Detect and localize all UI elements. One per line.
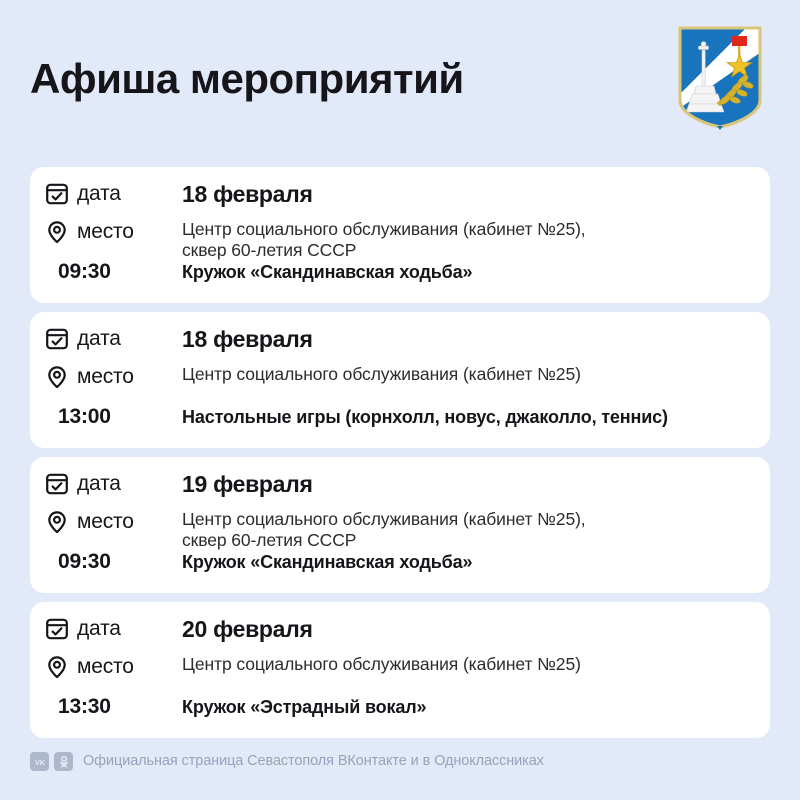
date-label: дата xyxy=(77,326,121,352)
map-pin-icon xyxy=(44,654,70,680)
date-value-cell: 18 февраля xyxy=(182,326,754,352)
event-place: Центр социального обслуживания (кабинет … xyxy=(182,654,754,675)
event-card[interactable]: дата 18 февраля место Це xyxy=(30,167,770,303)
event-time: 13:00 xyxy=(44,404,111,430)
date-label-cell: дата xyxy=(30,326,182,352)
footer-text: Официальная страница Севастополя ВКонтак… xyxy=(83,752,544,771)
place-label-cell: место xyxy=(30,654,182,680)
event-place: Центр социального обслуживания (кабинет … xyxy=(182,219,754,261)
place-label: место xyxy=(77,219,134,245)
date-label-cell: дата xyxy=(30,616,182,642)
place-label: место xyxy=(77,654,134,680)
event-date: 18 февраля xyxy=(182,181,754,207)
event-date-row: дата 18 февраля xyxy=(30,326,754,352)
title-value-cell: Кружок «Скандинавская ходьба» xyxy=(182,259,754,285)
event-card[interactable]: дата 19 февраля место Це xyxy=(30,457,770,593)
event-title: Настольные игры (корнхолл, новус, джакол… xyxy=(182,404,754,430)
title-value-cell: Кружок «Скандинавская ходьба» xyxy=(182,549,754,575)
title-value-cell: Кружок «Эстрадный вокал» xyxy=(182,694,754,720)
event-time-row: 09:30 Кружок «Скандинавская ходьба» xyxy=(30,549,754,575)
event-date-row: дата 18 февраля xyxy=(30,181,754,207)
date-label: дата xyxy=(77,616,121,642)
event-place: Центр социального обслуживания (кабинет … xyxy=(182,364,754,385)
calendar-check-icon xyxy=(44,616,70,642)
time-label-cell: 13:00 xyxy=(30,404,182,430)
event-place: Центр социального обслуживания (кабинет … xyxy=(182,509,754,551)
date-label: дата xyxy=(77,181,121,207)
event-place-row: место Центр социального обслуживания (ка… xyxy=(30,219,754,261)
place-label-cell: место xyxy=(30,364,182,390)
map-pin-icon xyxy=(44,219,70,245)
calendar-check-icon xyxy=(44,326,70,352)
date-value-cell: 18 февраля xyxy=(182,181,754,207)
place-label: место xyxy=(77,509,134,535)
event-title: Кружок «Скандинавская ходьба» xyxy=(182,549,754,575)
event-card[interactable]: дата 20 февраля место Це xyxy=(30,602,770,738)
event-title: Кружок «Эстрадный вокал» xyxy=(182,694,754,720)
event-title: Кружок «Скандинавская ходьба» xyxy=(182,259,754,285)
date-value-cell: 19 февраля xyxy=(182,471,754,497)
calendar-check-icon xyxy=(44,181,70,207)
event-date: 18 февраля xyxy=(182,326,754,352)
event-place-row: место Центр социального обслуживания (ка… xyxy=(30,364,754,390)
event-time: 13:30 xyxy=(44,694,111,720)
event-date-row: дата 20 февраля xyxy=(30,616,754,642)
event-place-row: место Центр социального обслуживания (ка… xyxy=(30,509,754,551)
place-label: место xyxy=(77,364,134,390)
poster-page: Афиша мероприятий xyxy=(0,0,800,800)
time-label-cell: 09:30 xyxy=(30,259,182,285)
date-label-cell: дата xyxy=(30,471,182,497)
footer: VK Официальная страница Севастополя ВКон… xyxy=(30,752,544,771)
date-value-cell: 20 февраля xyxy=(182,616,754,642)
page-title: Афиша мероприятий xyxy=(30,56,464,101)
header: Афиша мероприятий xyxy=(0,0,800,152)
event-date-row: дата 19 февраля xyxy=(30,471,754,497)
events-list: дата 18 февраля место Це xyxy=(30,167,770,747)
time-label-cell: 09:30 xyxy=(30,549,182,575)
time-label-cell: 13:30 xyxy=(30,694,182,720)
map-pin-icon xyxy=(44,509,70,535)
event-time-row: 13:00 Настольные игры (корнхолл, новус, … xyxy=(30,404,754,430)
title-value-cell: Настольные игры (корнхолл, новус, джакол… xyxy=(182,404,754,430)
event-time: 09:30 xyxy=(44,549,111,575)
event-card[interactable]: дата 18 февраля место Це xyxy=(30,312,770,448)
place-value-cell: Центр социального обслуживания (кабинет … xyxy=(182,654,754,675)
place-value-cell: Центр социального обслуживания (кабинет … xyxy=(182,364,754,385)
event-time-row: 09:30 Кружок «Скандинавская ходьба» xyxy=(30,259,754,285)
map-pin-icon xyxy=(44,364,70,390)
event-place-row: место Центр социального обслуживания (ка… xyxy=(30,654,754,680)
date-label: дата xyxy=(77,471,121,497)
calendar-check-icon xyxy=(44,471,70,497)
place-label-cell: место xyxy=(30,219,182,245)
event-time: 09:30 xyxy=(44,259,111,285)
event-date: 20 февраля xyxy=(182,616,754,642)
odnoklassniki-icon[interactable] xyxy=(54,752,73,771)
event-time-row: 13:30 Кружок «Эстрадный вокал» xyxy=(30,694,754,720)
coat-of-arms-sevastopol xyxy=(676,24,764,130)
vk-icon[interactable]: VK xyxy=(30,752,49,771)
place-label-cell: место xyxy=(30,509,182,535)
event-date: 19 февраля xyxy=(182,471,754,497)
place-value-cell: Центр социального обслуживания (кабинет … xyxy=(182,219,754,261)
place-value-cell: Центр социального обслуживания (кабинет … xyxy=(182,509,754,551)
date-label-cell: дата xyxy=(30,181,182,207)
svg-text:VK: VK xyxy=(34,757,45,766)
